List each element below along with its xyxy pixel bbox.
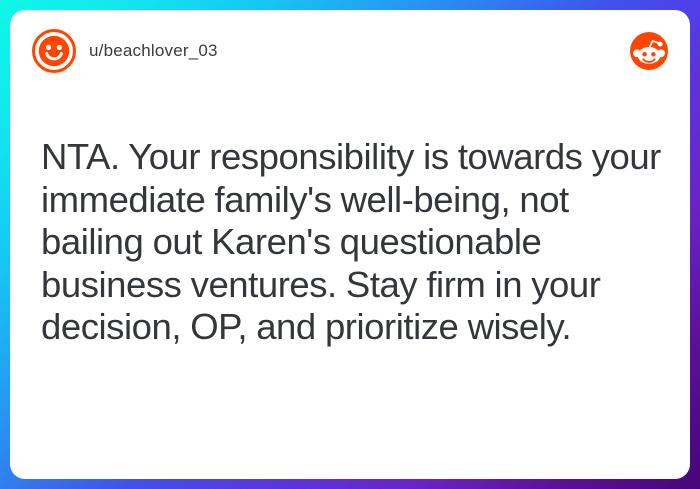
gradient-backdrop: u/beachlover_03 NTA. Your responsibility…	[0, 0, 700, 489]
platform-logo	[630, 32, 668, 70]
smiley-face-avatar-icon	[32, 29, 76, 73]
username-label: u/beachlover_03	[89, 41, 218, 61]
reddit-snoo-icon	[630, 32, 668, 70]
quote-text: NTA. Your responsibility is towards your…	[41, 136, 666, 349]
quote-card: u/beachlover_03 NTA. Your responsibility…	[10, 10, 690, 479]
avatar	[32, 29, 76, 73]
card-body: NTA. Your responsibility is towards your…	[10, 136, 690, 349]
author-block: u/beachlover_03	[32, 29, 218, 73]
card-header: u/beachlover_03	[10, 10, 690, 92]
